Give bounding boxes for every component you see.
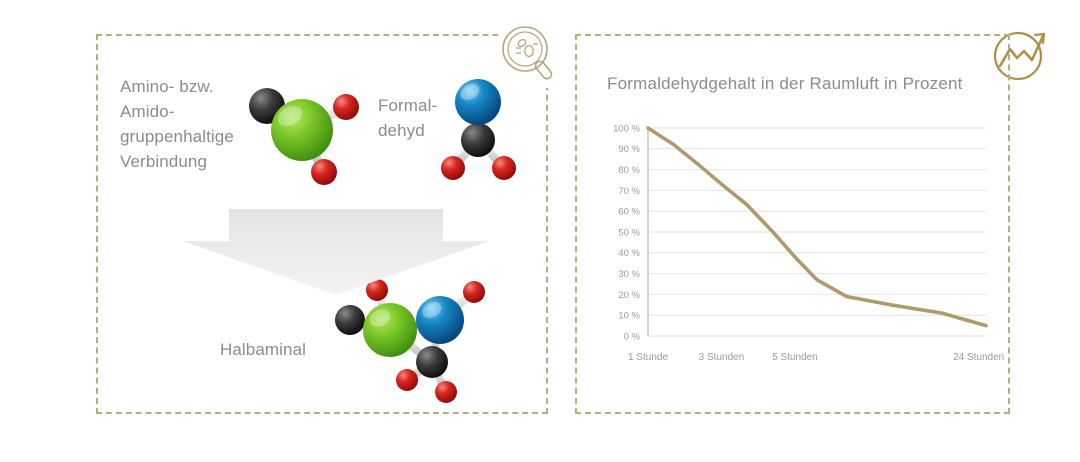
y-axis-tick-label: 20 %: [618, 290, 640, 301]
x-axis-tick-label: 5 Stunden: [772, 352, 818, 363]
atom-central-green: [363, 303, 417, 357]
atom-oxygen-red-top: [333, 94, 359, 120]
y-axis-tick-label: 70 %: [618, 186, 640, 197]
y-axis-tick-label: 90 %: [618, 144, 640, 155]
atom-carbon-black-lower: [416, 346, 448, 378]
atom-oxygen-red-lower-right: [435, 381, 457, 403]
atom-nitrogen-blue: [455, 79, 501, 125]
y-axis-tick-label: 60 %: [618, 207, 640, 218]
formaldehyde-molecule: [434, 72, 526, 190]
magnifier-molecule-icon: [498, 22, 564, 88]
y-axis-tick-label: 80 %: [618, 165, 640, 176]
atom-oxygen-red-right: [492, 156, 516, 180]
atom-central-green: [271, 99, 333, 161]
x-axis-tick-label: 3 Stunden: [699, 352, 745, 363]
x-axis-tick-label: 1 Stunde: [628, 352, 668, 363]
y-axis-tick-label: 40 %: [618, 248, 640, 259]
data-line-formaldehydgehalt: [648, 128, 986, 326]
atom-oxygen-red-lower-left: [396, 369, 418, 391]
atom-nitrogen-blue: [416, 296, 464, 344]
atom-carbon-black-left: [335, 305, 365, 335]
y-axis-tick-label: 100 %: [613, 123, 640, 134]
formaldehyde-line-chart: 100 %90 %80 %70 %60 %50 %40 %30 %20 %10 …: [600, 120, 990, 380]
x-axis-tick-label: 24 Stunden: [953, 352, 1004, 363]
atom-carbon-black: [461, 123, 495, 157]
atom-oxygen-red-left: [441, 156, 465, 180]
chart-title: Formaldehydgehalt in der Raumluft in Pro…: [607, 74, 963, 94]
down-arrow: [183, 209, 489, 295]
y-axis-tick-label: 30 %: [618, 269, 640, 280]
amine-molecule: [232, 72, 378, 194]
y-axis-tick-label: 10 %: [618, 311, 640, 322]
y-axis-tick-label: 50 %: [618, 227, 640, 238]
atom-oxygen-red-bottom: [311, 159, 337, 185]
y-axis-tick-label: 0 %: [624, 331, 641, 342]
